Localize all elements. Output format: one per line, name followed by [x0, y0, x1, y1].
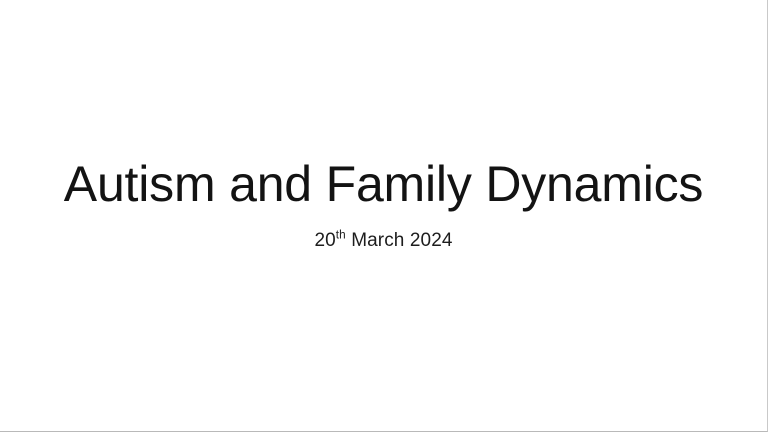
- title-block: Autism and Family Dynamics: [0, 157, 767, 211]
- date-month-year: March 2024: [346, 230, 453, 251]
- page-title: Autism and Family Dynamics: [0, 157, 767, 211]
- date-day-number: 20: [314, 230, 335, 251]
- subtitle-block: 20th March 2024: [0, 229, 767, 252]
- date-ordinal-suffix: th: [336, 229, 346, 242]
- title-slide: Autism and Family Dynamics 20th March 20…: [0, 0, 768, 432]
- slide-date: 20th March 2024: [0, 229, 767, 252]
